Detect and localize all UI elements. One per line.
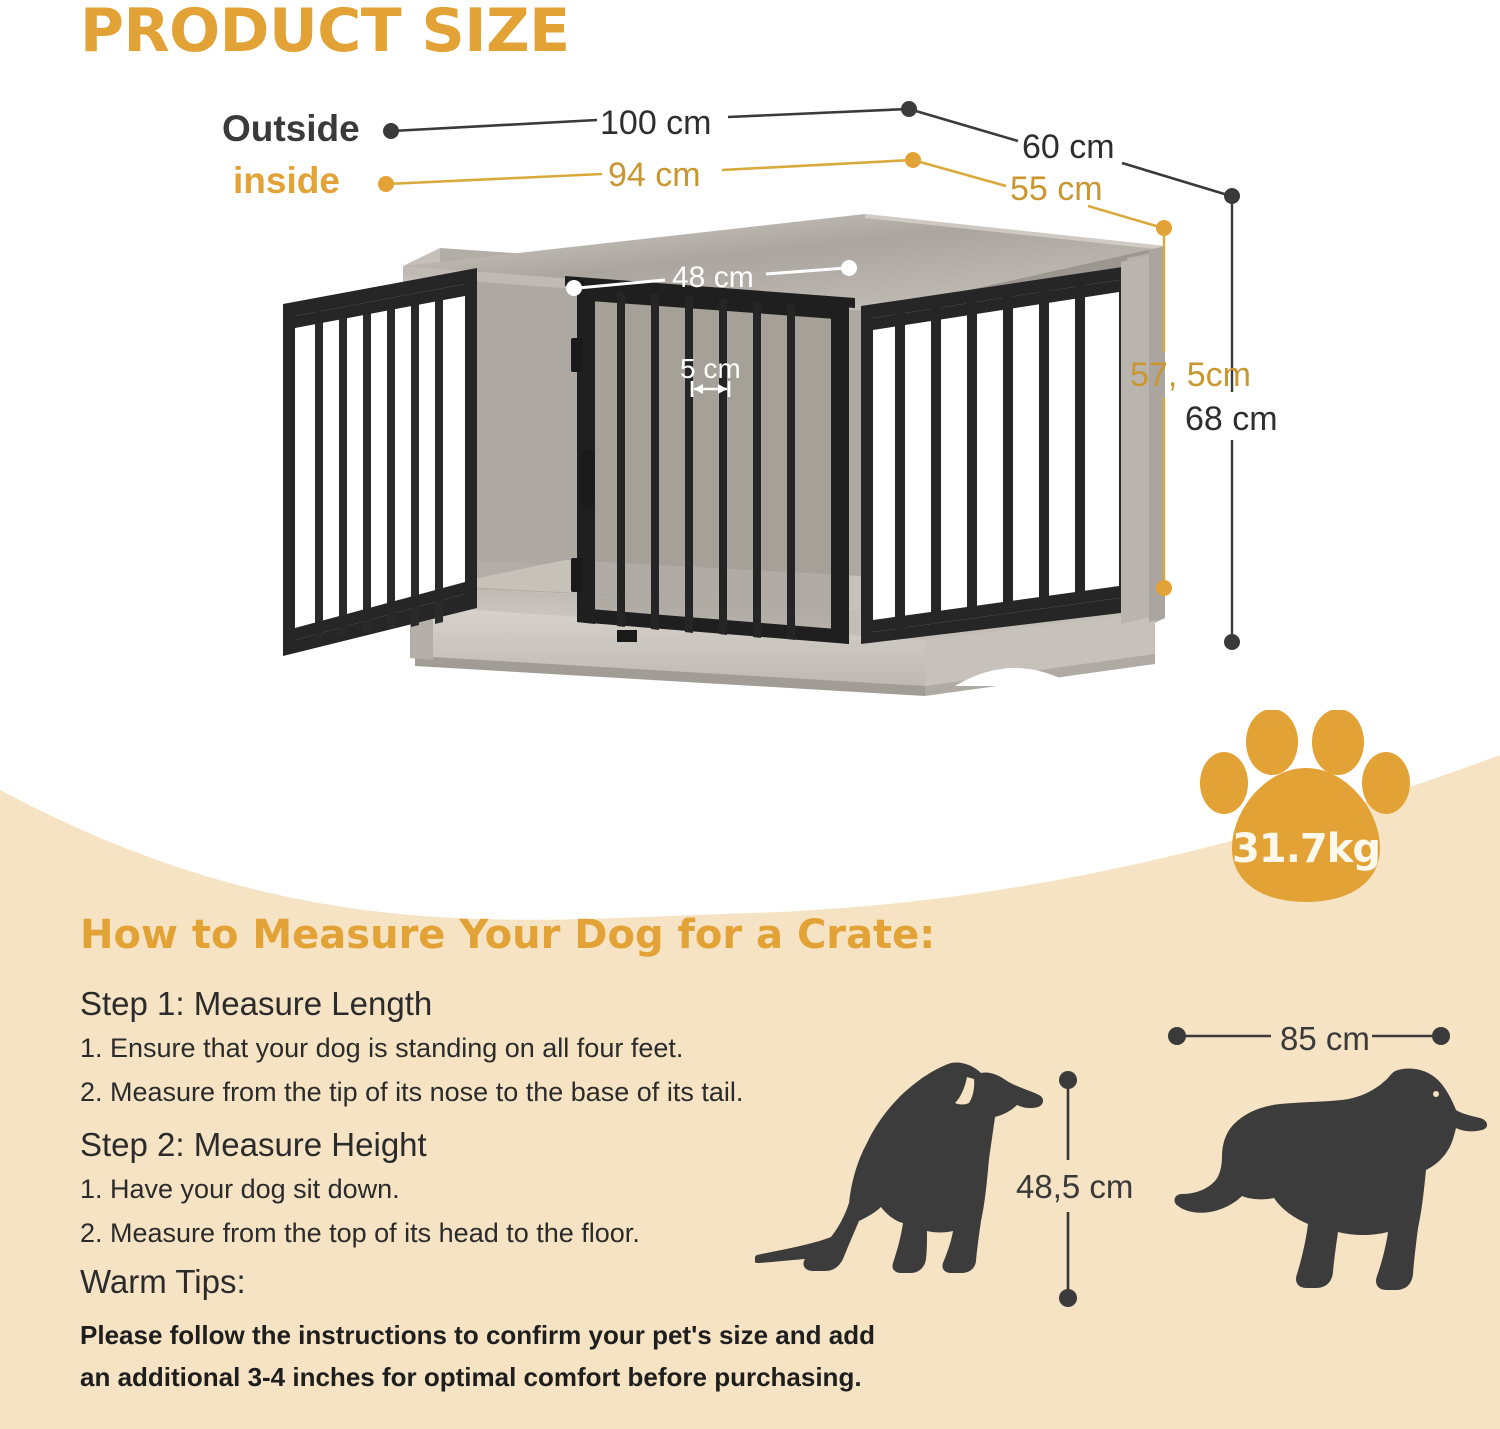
step1-heading: Step 1: Measure Length [80, 985, 432, 1023]
inside-height-label: 57, 5cm [1130, 356, 1251, 395]
product-weight-label: 31.7kg [1196, 826, 1416, 872]
step2-heading: Step 2: Measure Height [80, 1126, 427, 1164]
legend-inside-label: inside [233, 160, 340, 202]
dog-height-label: 48,5 cm [1016, 1168, 1133, 1206]
step2-line-1: 1. Have your dog sit down. [80, 1174, 400, 1205]
inside-depth-label: 55 cm [1010, 170, 1103, 209]
step1-line-2: 2. Measure from the tip of its nose to t… [80, 1077, 743, 1108]
outside-height-label: 68 cm [1185, 400, 1278, 439]
step2-line-2: 2. Measure from the top of its head to t… [80, 1218, 640, 1249]
infographic-page: PRODUCT SIZE [0, 0, 1500, 1429]
paw-print-icon [1196, 710, 1416, 910]
warm-tips-line-2: an additional 3-4 inches for optimal com… [80, 1362, 862, 1393]
inside-width-label: 94 cm [608, 156, 701, 195]
warm-tips-line-1: Please follow the instructions to confir… [80, 1320, 875, 1351]
legend-outside-label: Outside [222, 108, 360, 150]
warm-tips-heading: Warm Tips: [80, 1263, 246, 1301]
side-bar-panel [861, 266, 1129, 644]
page-title: PRODUCT SIZE [80, 0, 570, 66]
standing-dog-silhouette-icon [1160, 1060, 1500, 1320]
dog-length-label: 85 cm [1280, 1020, 1370, 1058]
outside-depth-label: 60 cm [1022, 128, 1115, 167]
outside-width-label: 100 cm [600, 104, 712, 143]
bar-gap-label: 5 cm [680, 353, 741, 385]
door-width-label: 48 cm [672, 261, 754, 295]
sliding-door-panel [565, 276, 855, 644]
measure-guide-title: How to Measure Your Dog for a Crate: [80, 912, 935, 958]
step1-line-1: 1. Ensure that your dog is standing on a… [80, 1033, 683, 1064]
